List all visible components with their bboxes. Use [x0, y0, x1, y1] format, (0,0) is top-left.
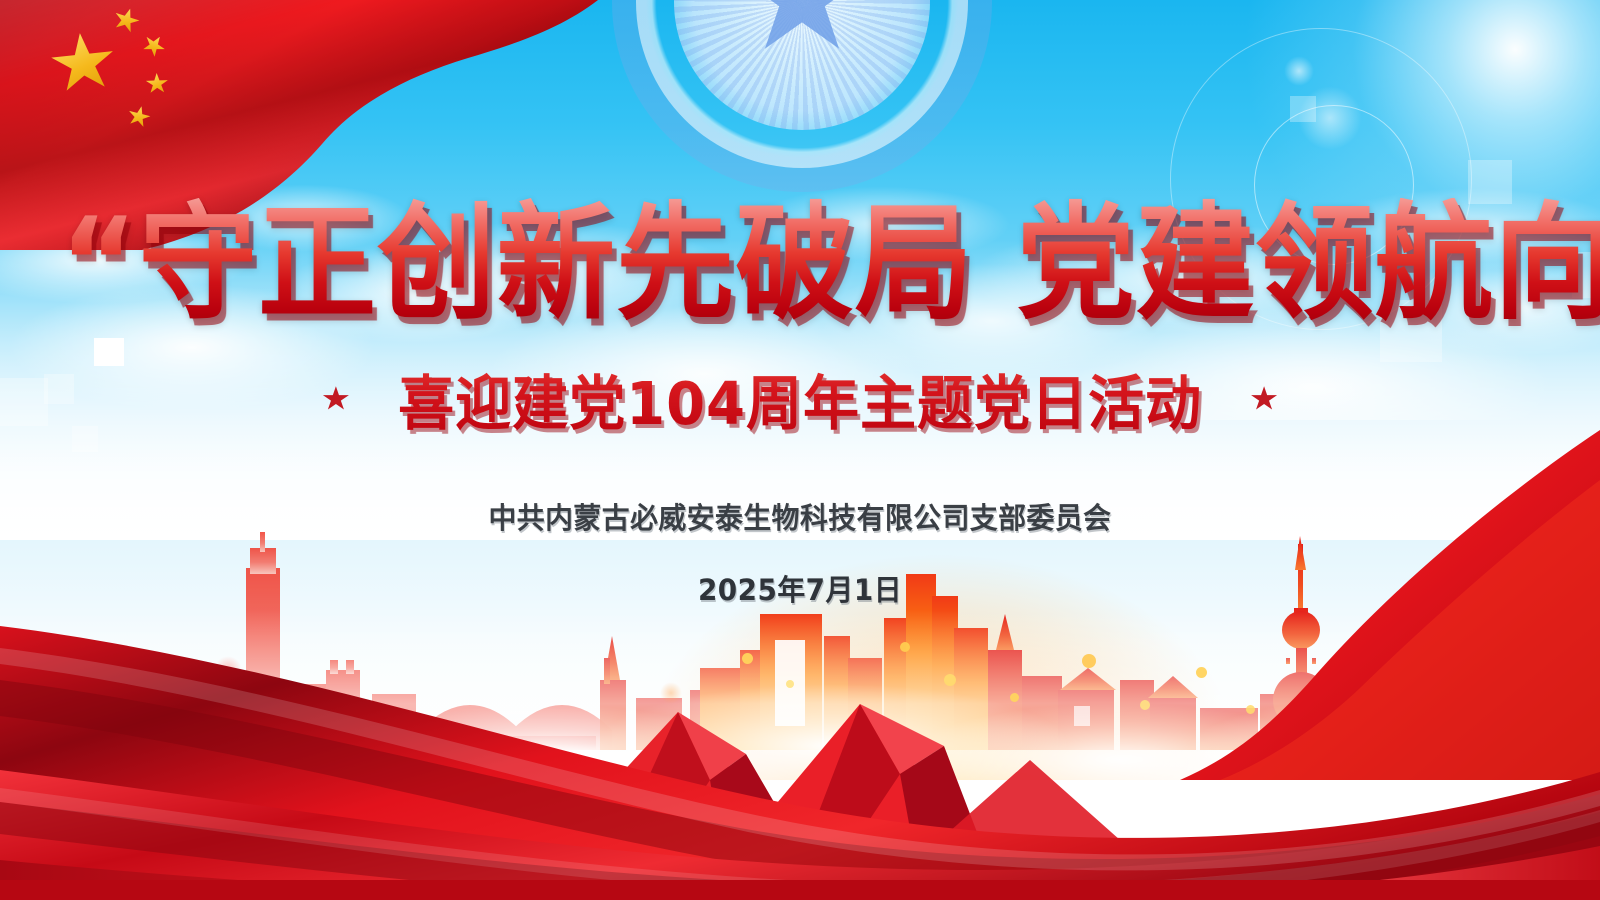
subtitle: 喜迎建党104周年主题党日活动 — [398, 356, 1202, 441]
bottom-accent-bar — [0, 880, 1600, 900]
event-date: 2025年7月1日 — [32, 567, 1568, 609]
blue-star-medallion-icon — [612, 0, 992, 192]
page-title: “守正创新先破局 党建领航向阳生” — [60, 198, 1600, 330]
banner-canvas: “守正创新先破局 党建领航向阳生” 喜迎建党104周年主题党日活动 中共内蒙古必… — [0, 0, 1600, 900]
subtitle-row: 喜迎建党104周年主题党日活动 — [0, 356, 1600, 441]
organization-name: 中共内蒙古必威安泰生物科技有限公司支部委员会 — [32, 495, 1568, 537]
banner-text-block: “守正创新先破局 党建领航向阳生” 喜迎建党104周年主题党日活动 中共内蒙古必… — [0, 198, 1600, 609]
red-star-left-icon — [323, 386, 349, 411]
decor-square — [1290, 96, 1316, 122]
red-star-right-icon — [1251, 386, 1277, 411]
lens-flare-dot-small — [1284, 56, 1314, 86]
